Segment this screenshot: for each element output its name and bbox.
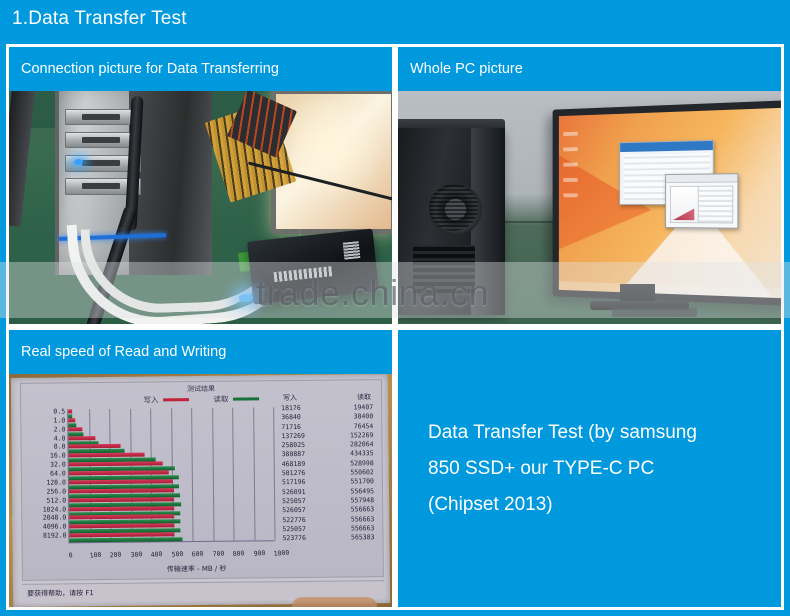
cell-read: 282064 bbox=[350, 440, 374, 450]
chart-x-tick-label: 600 bbox=[191, 550, 203, 559]
samsung-logo bbox=[273, 266, 332, 282]
description-line-2: 850 SSD+ our TYPE-C PC bbox=[428, 451, 697, 487]
window-titlebar bbox=[620, 141, 713, 152]
cell-read: 434335 bbox=[350, 450, 374, 460]
chart-y-tick-label: 512.0 bbox=[46, 496, 66, 504]
cell-write: 258025 bbox=[281, 441, 305, 451]
panel-description: Data Transfer Test (by samsung 850 SSD+ … bbox=[395, 327, 784, 610]
legend-label-read: 读取 bbox=[213, 394, 228, 405]
page-title: 1.Data Transfer Test bbox=[12, 8, 187, 30]
chart-y-tick-label: 16.0 bbox=[50, 452, 66, 460]
chart-bar-write bbox=[68, 427, 82, 431]
cell-read: 557948 bbox=[351, 496, 375, 506]
cell-read: 528998 bbox=[350, 459, 374, 469]
cell-write: 522776 bbox=[282, 515, 306, 525]
cell-write: 137269 bbox=[281, 432, 305, 442]
cell-read: 556663 bbox=[351, 505, 375, 515]
chart-bar-write bbox=[68, 409, 72, 413]
chart-y-tick-label: 2.0 bbox=[54, 425, 66, 433]
hand bbox=[292, 597, 376, 607]
cell-write: 523776 bbox=[282, 534, 306, 544]
chart-bar-group: 8192.0 bbox=[69, 531, 274, 543]
window-titlebar bbox=[666, 174, 738, 183]
chart-y-tick-label: 4.0 bbox=[54, 434, 66, 442]
window-table bbox=[697, 186, 732, 224]
description-text: Data Transfer Test (by samsung 850 SSD+ … bbox=[398, 415, 713, 523]
chart-bar-write bbox=[69, 453, 145, 458]
results-window bbox=[665, 173, 739, 229]
panel-connection-picture: Connection picture for Data Transferring bbox=[6, 44, 395, 327]
chart-x-tick-label: 200 bbox=[109, 550, 121, 559]
cell-read: 76454 bbox=[354, 422, 374, 432]
cell-write: 18176 bbox=[281, 404, 301, 414]
chart-y-tick-label: 2048.0 bbox=[43, 514, 67, 522]
photo-connection-setup bbox=[9, 91, 392, 324]
cell-read: 565383 bbox=[351, 533, 375, 543]
photo-benchmark-chart: 测试结果 写入 读取 0.51.02.04.08.016.032.064.012… bbox=[9, 374, 392, 607]
chart-bar-read bbox=[69, 537, 182, 542]
chart-x-tick-label: 400 bbox=[150, 550, 162, 559]
chart-data-table: 写入 读取 1817619407368403840071716764541372… bbox=[279, 392, 377, 543]
legend-swatch-write bbox=[163, 398, 189, 401]
description-line-1: Data Transfer Test (by samsung bbox=[428, 415, 697, 451]
chart-y-tick-label: 64.0 bbox=[50, 469, 66, 477]
chart-monitor-bezel: 测试结果 写入 读取 0.51.02.04.08.016.032.064.012… bbox=[11, 374, 390, 607]
table-row: 523776565383 bbox=[280, 533, 376, 543]
chart-y-tick-label: 1024.0 bbox=[43, 505, 67, 513]
chart-y-tick-label: 8192.0 bbox=[43, 532, 67, 540]
cell-write: 526091 bbox=[282, 488, 306, 498]
cell-write: 501276 bbox=[282, 469, 306, 479]
panel-grid: Connection picture for Data Transferring bbox=[6, 44, 784, 610]
cell-read: 19407 bbox=[354, 403, 374, 413]
chart-x-tick-label: 900 bbox=[253, 549, 265, 558]
chart-y-tick-label: 32.0 bbox=[50, 461, 66, 469]
legend-label-write: 写入 bbox=[143, 394, 158, 405]
photo-whole-pc bbox=[398, 91, 781, 324]
tower-vents bbox=[413, 245, 474, 296]
description-container: Data Transfer Test (by samsung 850 SSD+ … bbox=[398, 330, 781, 607]
chart-x-tick-label: 500 bbox=[171, 550, 183, 559]
table-header-read: 读取 bbox=[357, 392, 371, 402]
chart-x-axis-label: 传输速率 - MB / 秒 bbox=[167, 564, 227, 575]
chart-x-tick-label: 100 bbox=[89, 551, 101, 560]
desktop-icons bbox=[563, 124, 578, 198]
chart-y-tick-label: 4096.0 bbox=[43, 523, 67, 531]
window-chart bbox=[670, 186, 700, 223]
cell-write: 36840 bbox=[281, 413, 301, 423]
table-header-write: 写入 bbox=[283, 393, 297, 403]
benchmark-chart: 测试结果 写入 读取 0.51.02.04.08.016.032.064.012… bbox=[20, 379, 384, 581]
description-line-3: (Chipset 2013) bbox=[428, 487, 697, 523]
panel-label-connection: Connection picture for Data Transferring bbox=[9, 47, 392, 91]
chart-y-tick-label: 0.5 bbox=[53, 407, 65, 415]
chart-y-tick-label: 256.0 bbox=[46, 487, 66, 495]
panel-whole-pc-picture: Whole PC picture bbox=[395, 44, 784, 327]
ssd-label bbox=[343, 242, 361, 260]
chart-bar-write bbox=[68, 436, 96, 440]
monitor-screen bbox=[558, 107, 781, 298]
chart-x-axis-ticks: 01002003004005006007008009001000 bbox=[63, 548, 375, 563]
legend-swatch-read bbox=[233, 398, 259, 401]
cell-write: 380887 bbox=[282, 450, 306, 460]
chart-x-tick-label: 0 bbox=[68, 551, 73, 559]
cell-write: 71716 bbox=[281, 423, 301, 433]
chart-bar-write bbox=[69, 444, 121, 449]
cell-write: 525057 bbox=[282, 525, 306, 535]
cell-read: 551700 bbox=[350, 478, 374, 488]
cell-read: 152269 bbox=[350, 431, 374, 441]
cell-read: 556495 bbox=[350, 487, 374, 497]
chart-x-tick-label: 700 bbox=[212, 549, 224, 558]
ssd-activity-led bbox=[239, 294, 253, 302]
chart-x-tick-label: 800 bbox=[232, 549, 244, 558]
cell-read: 38400 bbox=[354, 412, 374, 422]
chart-x-tick-label: 1000 bbox=[273, 549, 289, 558]
cell-read: 556663 bbox=[351, 515, 375, 525]
panel-real-speed: Real speed of Read and Writing 测试结果 写入 读… bbox=[6, 327, 395, 610]
chart-bar-write bbox=[68, 418, 75, 422]
panel-label-whole-pc: Whole PC picture bbox=[398, 47, 781, 91]
chart-title: 测试结果 bbox=[187, 384, 215, 394]
cell-read: 556663 bbox=[351, 524, 375, 534]
keyboard bbox=[612, 308, 696, 317]
chart-plot-area: 0.51.02.04.08.016.032.064.0128.0256.0512… bbox=[67, 407, 274, 543]
product-detail-page: 1.Data Transfer Test Connection picture … bbox=[0, 0, 790, 616]
chart-x-tick-label: 300 bbox=[130, 550, 142, 559]
cell-read: 550602 bbox=[350, 468, 374, 478]
monitor bbox=[552, 100, 781, 306]
chart-y-tick-label: 1.0 bbox=[53, 416, 65, 424]
cell-write: 468189 bbox=[282, 460, 306, 470]
chart-y-tick-label: 128.0 bbox=[46, 478, 66, 486]
chart-legend: 写入 读取 bbox=[143, 393, 259, 405]
cell-write: 525057 bbox=[282, 497, 306, 507]
cell-write: 526057 bbox=[282, 506, 306, 516]
table-body: 1817619407368403840071716764541372691522… bbox=[279, 403, 376, 543]
panel-label-real-speed: Real speed of Read and Writing bbox=[9, 330, 392, 374]
cell-write: 517196 bbox=[282, 478, 306, 488]
fan-grill bbox=[429, 184, 479, 231]
chart-y-tick-label: 8.0 bbox=[54, 443, 66, 451]
